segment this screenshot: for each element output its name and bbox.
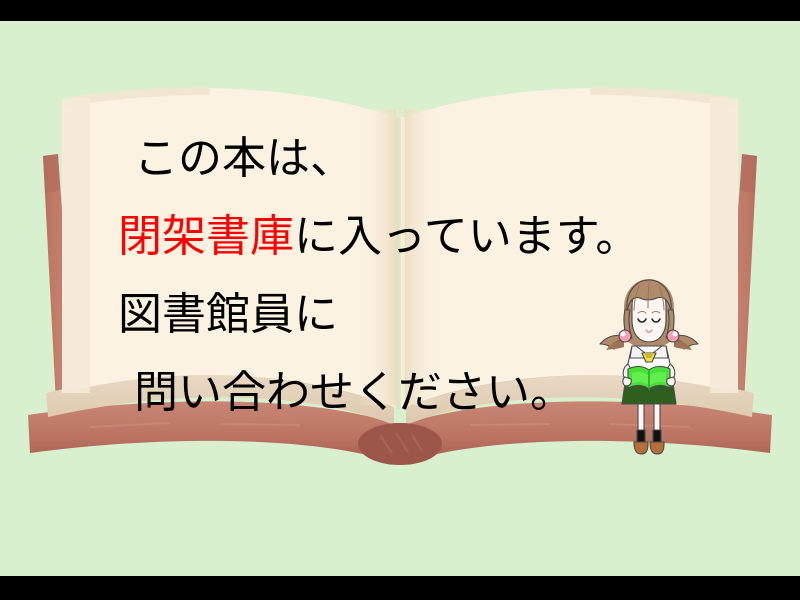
message-line-2: 閉架書庫に入っています。 bbox=[118, 198, 698, 276]
message-line-1-text: この本は、 bbox=[134, 133, 354, 184]
shoe-left bbox=[634, 442, 648, 454]
shoe-right bbox=[650, 442, 664, 454]
held-book bbox=[628, 366, 670, 389]
slide-background: この本は、 閉架書庫に入っています。 図書館員に 問い合わせください。 bbox=[0, 21, 800, 576]
message-line-4-text: 問い合わせください。 bbox=[134, 367, 574, 418]
letterbox-top bbox=[0, 0, 800, 21]
message-line-3-text: 図書館員に bbox=[118, 289, 338, 340]
slide-stage: この本は、 閉架書庫に入っています。 図書館員に 問い合わせください。 bbox=[0, 0, 800, 600]
message-line-1: この本は、 bbox=[118, 120, 698, 198]
closed-stack-keyword: 閉架書庫 bbox=[118, 211, 294, 262]
message-line-2-text: に入っています。 bbox=[294, 211, 639, 262]
girl-reading-book-illustration bbox=[594, 274, 704, 464]
hair-ribbon-left bbox=[619, 330, 631, 342]
hair-ribbon-right bbox=[667, 330, 679, 342]
letterbox-bottom bbox=[0, 576, 800, 600]
